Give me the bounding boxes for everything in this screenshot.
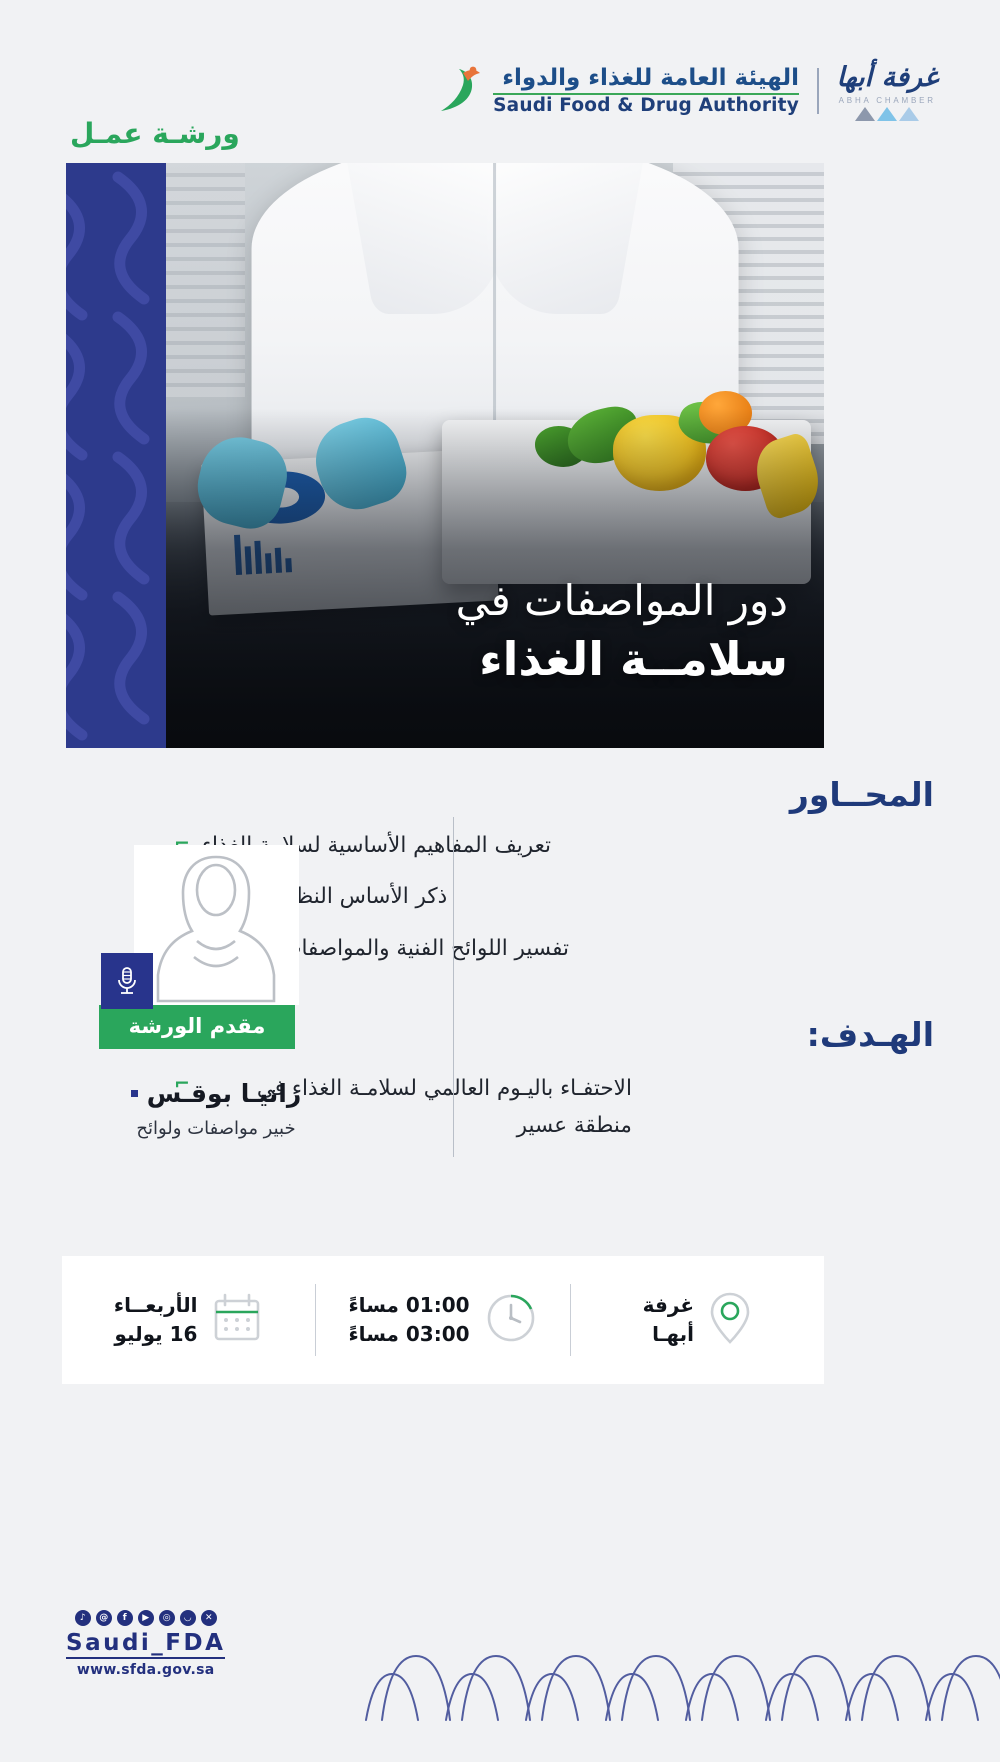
person-placeholder-icon bbox=[134, 845, 299, 1005]
info-location: غرفة أبهـا bbox=[571, 1290, 824, 1350]
tiktok-icon[interactable]: ♪ bbox=[75, 1610, 91, 1626]
abha-logo-arabic: غرفة أبها bbox=[837, 62, 939, 93]
snapchat-icon[interactable]: ◡ bbox=[180, 1610, 196, 1626]
x-icon[interactable]: ✕ bbox=[201, 1610, 217, 1626]
footer: ✕ ◡ ◎ ▶ f @ ♪ Saudi_FDA www.sfda.gov.sa bbox=[0, 1562, 1000, 1762]
poster-root: غرفة أبها ABHA CHAMBER الهيئة العامة للغ… bbox=[0, 0, 1000, 1762]
speaker-card: مقدم الورشة رانيـا بوقـس خبير مواصفات ول… bbox=[66, 845, 366, 1139]
instagram-icon[interactable]: ◎ bbox=[159, 1610, 175, 1626]
content-vertical-divider bbox=[453, 817, 455, 1157]
avatar bbox=[134, 845, 299, 1005]
facebook-icon[interactable]: f bbox=[117, 1610, 133, 1626]
info-date: الأربعــاء 16 يوليو bbox=[62, 1291, 315, 1349]
website-url[interactable]: www.sfda.gov.sa bbox=[66, 1662, 225, 1678]
event-info-bar: غرفة أبهـا 01:00 مساءً 03:00 مساءً bbox=[62, 1256, 824, 1384]
speaker-title: خبير مواصفات ولوائح bbox=[66, 1118, 366, 1139]
youtube-icon[interactable]: ▶ bbox=[138, 1610, 154, 1626]
speaker-role-banner: مقدم الورشة bbox=[99, 1005, 295, 1049]
sfda-logo: الهيئة العامة للغذاء والدواء Saudi Food … bbox=[433, 65, 799, 117]
header-logos: غرفة أبها ABHA CHAMBER الهيئة العامة للغ… bbox=[433, 60, 938, 122]
name-square-icon bbox=[131, 1090, 138, 1097]
info-separator bbox=[570, 1284, 571, 1356]
footer-social-block: ✕ ◡ ◎ ▶ f @ ♪ Saudi_FDA www.sfda.gov.sa bbox=[66, 1610, 225, 1678]
threads-icon[interactable]: @ bbox=[96, 1610, 112, 1626]
handle-underline bbox=[66, 1657, 225, 1659]
sfda-swoosh-icon bbox=[433, 65, 483, 117]
hero-title-line2: سلامــة الغذاء bbox=[456, 628, 788, 690]
location-pin-icon bbox=[708, 1290, 752, 1350]
microphone-icon bbox=[101, 953, 153, 1009]
time-line2: 03:00 مساءً bbox=[348, 1320, 469, 1349]
header-divider bbox=[817, 68, 819, 114]
topics-heading: المحــاور bbox=[174, 775, 934, 814]
calendar-icon bbox=[211, 1292, 263, 1348]
date-line1: الأربعــاء bbox=[114, 1291, 198, 1320]
info-separator bbox=[315, 1284, 316, 1356]
social-handle: Saudi_FDA bbox=[66, 1630, 225, 1656]
hero-title-line1: دور المواصفات في bbox=[456, 575, 788, 628]
abha-triangles-icon bbox=[855, 107, 919, 121]
clock-icon bbox=[484, 1291, 538, 1349]
hero-photo: دور المواصفات في سلامــة الغذاء bbox=[166, 163, 824, 748]
speaker-name: رانيـا بوقـس bbox=[147, 1079, 302, 1108]
sfda-logo-english: Saudi Food & Drug Authority bbox=[493, 97, 799, 116]
abha-chamber-logo: غرفة أبها ABHA CHAMBER bbox=[837, 62, 939, 121]
info-time: 01:00 مساءً 03:00 مساءً bbox=[316, 1291, 569, 1349]
date-line2: 16 يوليو bbox=[114, 1320, 198, 1349]
footer-wave-pattern bbox=[360, 1630, 1000, 1726]
hero-banner: دور المواصفات في سلامــة الغذاء bbox=[66, 163, 824, 748]
hero-pattern-strip bbox=[66, 163, 166, 748]
abha-logo-english: ABHA CHAMBER bbox=[839, 96, 936, 105]
workshop-label: ورشـة عمـل bbox=[70, 117, 240, 150]
time-line1: 01:00 مساءً bbox=[348, 1291, 469, 1320]
location-line1: غرفة bbox=[643, 1291, 694, 1320]
location-line2: أبهـا bbox=[643, 1320, 694, 1349]
hero-title: دور المواصفات في سلامــة الغذاء bbox=[456, 575, 788, 690]
social-icons: ✕ ◡ ◎ ▶ f @ ♪ bbox=[66, 1610, 225, 1626]
sfda-logo-arabic: الهيئة العامة للغذاء والدواء bbox=[493, 67, 799, 90]
speaker-name-row: رانيـا بوقـس bbox=[66, 1079, 366, 1108]
